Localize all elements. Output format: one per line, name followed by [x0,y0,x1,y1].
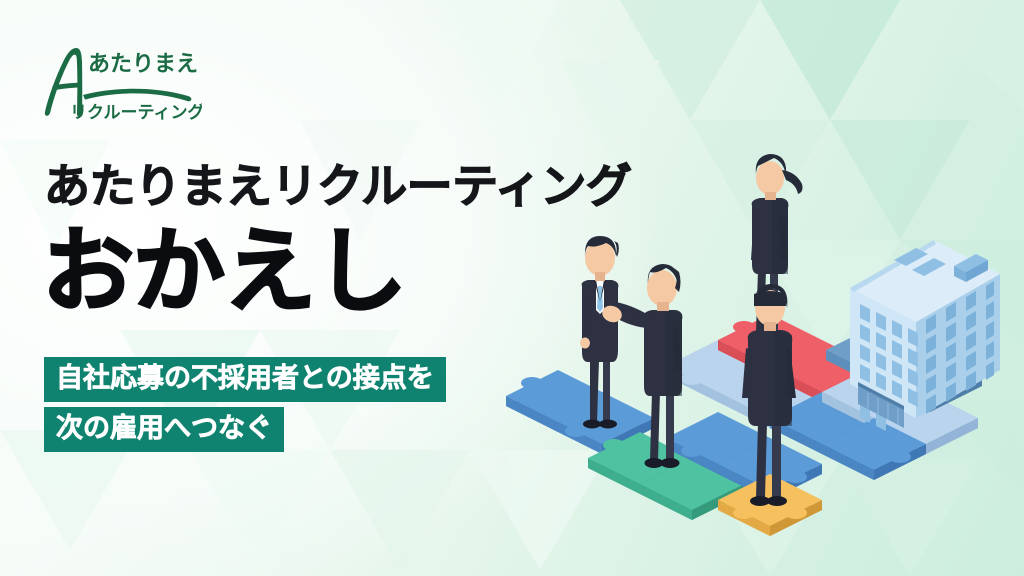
hero-banner: あたりまえ リクルーティング あたりまえリクルーティング おかえし 自社応募の不… [0,0,1024,576]
logo-line2: リクルーティング [70,102,202,122]
isometric-puzzle-illustration [470,210,1024,576]
brand-logo[interactable]: あたりまえ リクルーティング [42,42,202,124]
tagline-band-2: 次の雇用へつなぐ [44,407,284,452]
logo-swash-icon [83,89,191,101]
office-building [850,240,1000,431]
page-headline: あたりまえリクルーティング [44,163,631,209]
tagline-band-1: 自社応募の不採用者との接点を [44,357,446,402]
logo-line1: あたりまえ [88,51,198,76]
page-title: おかえし [42,226,406,318]
